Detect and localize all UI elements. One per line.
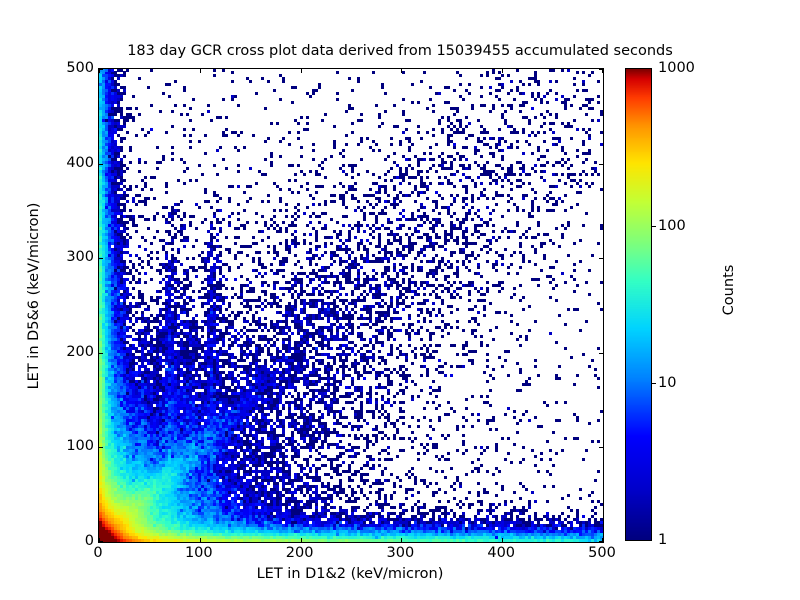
y-tick-400 [599,164,603,165]
x-tick-label-0: 0 [93,545,102,561]
colorbar [625,68,652,541]
y-tick-100 [599,447,603,448]
colorbar-tick-100 [652,226,656,227]
y-tick-label-500: 500 [66,60,94,76]
y-tick-200 [599,353,603,354]
y-tick-label-200: 200 [66,344,94,360]
colorbar-gradient [625,68,652,541]
x-tick-label-200: 200 [286,545,314,561]
chart-title-line-1: 183 day GCR cross plot data derived from… [0,43,800,61]
y-tick-label-300: 300 [66,249,94,265]
x-tick-300 [401,538,402,542]
x-tick-label-500: 500 [588,545,616,561]
x-tick-300 [401,69,402,73]
y-tick-500 [99,69,103,70]
colorbar-tick-label-100: 100 [658,218,686,234]
x-tick-400 [502,538,503,542]
y-tick-300 [99,258,103,259]
y-tick-500 [599,69,603,70]
x-tick-400 [502,69,503,73]
y-tick-0 [599,541,603,542]
x-tick-label-300: 300 [387,545,415,561]
density-heatmap [99,69,603,542]
x-tick-100 [200,69,201,73]
y-tick-300 [599,258,603,259]
y-tick-label-400: 400 [66,155,94,171]
colorbar-tick-label-1000: 1000 [658,60,695,76]
figure-canvas: 183 day GCR cross plot data derived from… [0,0,800,600]
y-tick-200 [99,353,103,354]
y-axis-label: LET in D5&6 (keV/micron) [26,196,42,396]
y-tick-label-100: 100 [66,438,94,454]
colorbar-label: Counts [721,190,737,390]
x-tick-label-100: 100 [185,545,213,561]
y-tick-100 [99,447,103,448]
x-tick-200 [301,538,302,542]
y-tick-0 [99,541,103,542]
x-tick-label-400: 400 [487,545,515,561]
plot-axes [98,68,604,543]
y-tick-400 [99,164,103,165]
colorbar-tick-label-1: 1 [658,532,667,548]
colorbar-tick-label-10: 10 [658,375,676,391]
x-tick-200 [301,69,302,73]
colorbar-tick-10 [652,383,656,384]
x-tick-100 [200,538,201,542]
y-tick-label-0: 0 [85,533,94,549]
x-axis-label: LET in D1&2 (keV/micron) [98,566,602,582]
